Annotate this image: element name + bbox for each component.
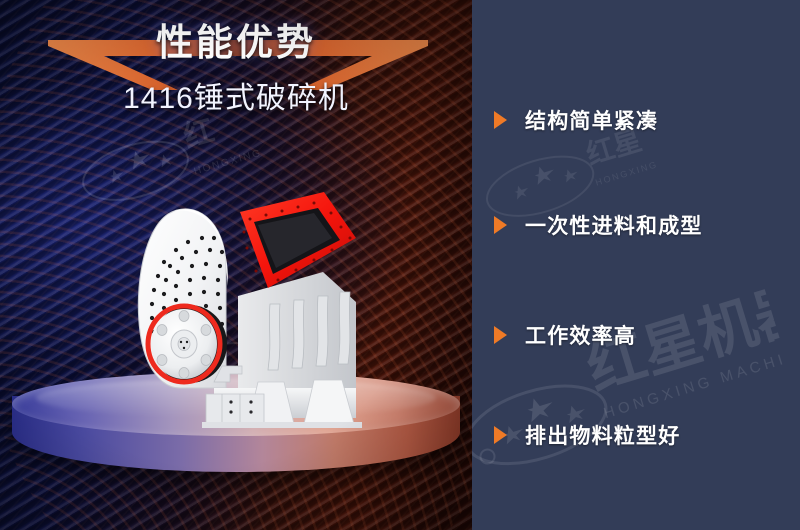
poster-subtitle: 1416锤式破碎机 <box>0 73 472 117</box>
poster-title: 性能优势 <box>0 24 472 63</box>
feed-hopper-frame <box>240 192 356 288</box>
list-item[interactable]: 结构简单紧凑 <box>494 105 658 135</box>
arrow-right-icon <box>494 216 507 234</box>
svg-text:红: 红 <box>180 114 218 154</box>
feature-list: 结构简单紧凑 一次性进料和成型 工作效率高 排出物料粒型好 <box>472 0 800 530</box>
list-item[interactable]: 排出物料粒型好 <box>494 420 680 450</box>
right-features-panel: 红星 HONGXING 红星机器 HONGXING MACHINERY 结构简单… <box>472 0 800 530</box>
list-item[interactable]: 一次性进料和成型 <box>494 210 703 240</box>
feature-label: 排出物料粒型好 <box>525 420 680 450</box>
title-block: 性能优势 1416锤式破碎机 <box>0 24 472 117</box>
feature-label: 一次性进料和成型 <box>525 210 703 240</box>
svg-text:HONGXING: HONGXING <box>193 147 264 177</box>
arrow-right-icon <box>494 326 507 344</box>
arrow-right-icon <box>494 111 507 129</box>
list-item[interactable]: 工作效率高 <box>494 320 636 350</box>
flywheel <box>148 305 227 383</box>
hammer-crusher-image <box>118 176 380 436</box>
product-poster: 红 HONGXING 红星 HONGXING <box>0 0 800 530</box>
arrow-right-icon <box>494 426 507 444</box>
feature-label: 结构简单紧凑 <box>525 105 658 135</box>
feature-label: 工作效率高 <box>525 320 636 350</box>
left-visual-panel: 红 HONGXING 红星 HONGXING <box>0 0 472 530</box>
